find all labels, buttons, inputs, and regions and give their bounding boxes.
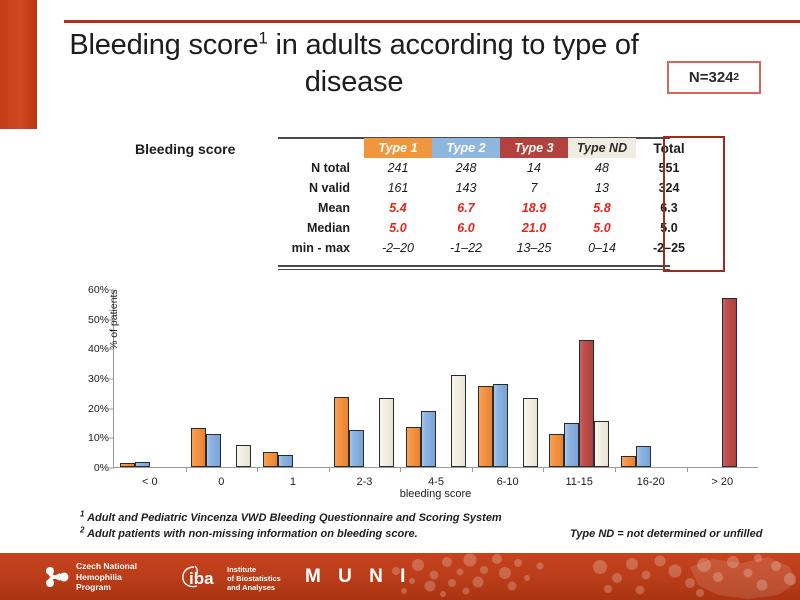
table-cell-value: 13–25 xyxy=(500,238,568,258)
table-row-label: Mean xyxy=(278,198,364,218)
muni-logo-text: M U N I xyxy=(305,566,411,588)
table-cell-value: 6.7 xyxy=(432,198,500,218)
table-cell-value: 241 xyxy=(364,158,432,178)
chart-bar xyxy=(722,298,737,467)
table-bottom-rule xyxy=(278,265,670,267)
chart-bar-groups: < 0012-34-56-1011-1516-20> 20 xyxy=(114,289,758,467)
chart-bar xyxy=(278,455,293,467)
chart-bar-group: 1 xyxy=(257,289,329,467)
table-row-label: Median xyxy=(278,218,364,238)
chart-bar-group: 2-3 xyxy=(329,289,401,467)
page-title-main: Bleeding score xyxy=(69,29,258,61)
chart-y-tick-label: 40% xyxy=(88,343,109,355)
iba-line-3: and Analyses xyxy=(227,584,281,593)
chart-x-tick-label: > 20 xyxy=(711,476,733,488)
chart-y-tick-label: 20% xyxy=(88,403,109,415)
table-row-label: N total xyxy=(278,158,364,178)
chart-bar xyxy=(523,398,538,467)
chart-bar-group: 4-5 xyxy=(400,289,472,467)
table-cell-total: 551 xyxy=(636,158,702,178)
chart-bar xyxy=(135,462,150,467)
footnote-2: 2 Adult patients with non-missing inform… xyxy=(80,528,418,540)
chart-bar xyxy=(451,375,466,467)
chart-x-axis-label: bleeding score xyxy=(113,488,758,500)
chart-y-tick-mark xyxy=(109,468,114,469)
table-header-total: Total xyxy=(636,138,702,158)
chart-bar-group: 6-10 xyxy=(472,289,544,467)
table-cell-value: 21.0 xyxy=(500,218,568,238)
cnhp-logo-icon xyxy=(44,564,70,590)
table-body: N total2412481448551N valid161143713324M… xyxy=(278,158,702,258)
footnote-1-text: Adult and Pediatric Vincenza VWD Bleedin… xyxy=(84,512,501,524)
chart-x-tick-label: 6-10 xyxy=(497,476,519,488)
title-divider xyxy=(64,20,800,23)
cnhp-line-1: Czech National xyxy=(76,561,137,572)
table-cell-total: 324 xyxy=(636,178,702,198)
footnote-legend-note: Type ND = not determined or unfilled xyxy=(570,528,762,540)
bleeding-score-chart: % of patients 0%10%20%30%40%50%60% < 001… xyxy=(60,282,780,497)
accent-block xyxy=(0,0,37,129)
table-cell-value: 5.4 xyxy=(364,198,432,218)
table-cell-value: 48 xyxy=(568,158,636,178)
chart-bar-group: < 0 xyxy=(114,289,186,467)
chart-x-tick-label: 0 xyxy=(218,476,224,488)
iba-logo-text: Institute of Biostatistics and Analyses xyxy=(227,566,281,592)
table-cell-value: 18.9 xyxy=(500,198,568,218)
chart-bar-group: 0 xyxy=(186,289,258,467)
table-cell-value: 143 xyxy=(432,178,500,198)
chart-y-tick-label: 10% xyxy=(88,432,109,444)
table-row: min - max-2–20-1–2213–250–14-2–25 xyxy=(278,238,702,258)
table-row: N valid161143713324 xyxy=(278,178,702,198)
footnote-1: 1 Adult and Pediatric Vincenza VWD Bleed… xyxy=(80,512,502,524)
table-cell-value: 7 xyxy=(500,178,568,198)
table-row-label: min - max xyxy=(278,238,364,258)
chart-bar xyxy=(379,398,394,467)
chart-bar xyxy=(549,434,564,467)
chart-bar xyxy=(236,445,251,467)
chart-y-tick-label: 0% xyxy=(94,462,109,474)
table-cell-total: 5.0 xyxy=(636,218,702,238)
cnhp-logo-text: Czech National Hemophilia Program xyxy=(76,561,137,593)
table-cell-value: 5.8 xyxy=(568,198,636,218)
table-cell-value: 13 xyxy=(568,178,636,198)
table-cell-value: 14 xyxy=(500,158,568,178)
chart-bar xyxy=(191,428,206,467)
statistics-table: Type 1 Type 2 Type 3 Type ND Total N tot… xyxy=(278,138,702,258)
table-header-type-3: Type 3 xyxy=(500,138,568,158)
chart-bar xyxy=(493,384,508,467)
footnote-2-text: Adult patients with non-missing informat… xyxy=(84,528,417,540)
chart-x-tick-label: 2-3 xyxy=(357,476,373,488)
sample-size-value: N=324 xyxy=(689,69,734,86)
page-title-footnote-marker: 1 xyxy=(258,28,267,47)
chart-bar xyxy=(478,386,493,467)
chart-bar-group: > 20 xyxy=(687,289,759,467)
chart-bar xyxy=(636,446,651,467)
chart-bar xyxy=(579,340,594,467)
table-row: Median5.06.021.05.05.0 xyxy=(278,218,702,238)
table-row-label: N valid xyxy=(278,178,364,198)
table-row: N total2412481448551 xyxy=(278,158,702,178)
chart-y-tick-label: 50% xyxy=(88,314,109,326)
table-bottom-rule-2 xyxy=(278,269,670,270)
svg-text:iba: iba xyxy=(189,569,214,588)
chart-bar xyxy=(621,456,636,467)
chart-x-tick-label: < 0 xyxy=(142,476,158,488)
chart-y-tick-label: 30% xyxy=(88,373,109,385)
chart-bar xyxy=(263,452,278,467)
table-cell-value: 5.0 xyxy=(364,218,432,238)
table-header-blank xyxy=(278,138,364,158)
table-header-type-2: Type 2 xyxy=(432,138,500,158)
chart-x-tick-label: 11-15 xyxy=(565,476,592,488)
table-cell-value: 161 xyxy=(364,178,432,198)
cnhp-line-2: Hemophilia xyxy=(76,572,137,583)
table-title: Bleeding score xyxy=(135,141,235,157)
table-cell-value: 6.0 xyxy=(432,218,500,238)
table-cell-value: -1–22 xyxy=(432,238,500,258)
slide-footer: Czech National Hemophilia Program iba In… xyxy=(0,553,800,600)
chart-y-tick-label: 60% xyxy=(88,284,109,296)
chart-bar-group: 16-20 xyxy=(615,289,687,467)
chart-bar xyxy=(594,421,609,467)
chart-bar xyxy=(349,430,364,467)
chart-bar xyxy=(406,427,421,467)
table-cell-value: 248 xyxy=(432,158,500,178)
chart-x-tick-label: 4-5 xyxy=(428,476,444,488)
table-header-type-1: Type 1 xyxy=(364,138,432,158)
page-title-rest: in adults according to type of disease xyxy=(268,29,639,98)
table-cell-value: -2–20 xyxy=(364,238,432,258)
chart-bar xyxy=(120,463,135,467)
chart-plot-area: % of patients 0%10%20%30%40%50%60% < 001… xyxy=(113,290,758,468)
chart-x-tick-label: 1 xyxy=(290,476,296,488)
table-cell-total: 6.3 xyxy=(636,198,702,218)
chart-bar xyxy=(334,397,349,467)
chart-x-tick-label: 16-20 xyxy=(637,476,665,488)
table-cell-total: -2–25 xyxy=(636,238,702,258)
chart-bar xyxy=(564,423,579,467)
page-title: Bleeding score1 in adults according to t… xyxy=(64,27,644,101)
chart-bar xyxy=(206,434,221,467)
table-header-type-nd: Type ND xyxy=(568,138,636,158)
table-cell-value: 5.0 xyxy=(568,218,636,238)
iba-logo-icon: iba xyxy=(180,565,224,589)
table-cell-value: 0–14 xyxy=(568,238,636,258)
table-header-row: Type 1 Type 2 Type 3 Type ND Total xyxy=(278,138,702,158)
table-row: Mean5.46.718.95.86.3 xyxy=(278,198,702,218)
sample-size-badge: N=3242 xyxy=(667,61,761,94)
cnhp-line-3: Program xyxy=(76,582,137,593)
chart-bar xyxy=(421,411,436,467)
chart-bar-group: 11-15 xyxy=(543,289,615,467)
